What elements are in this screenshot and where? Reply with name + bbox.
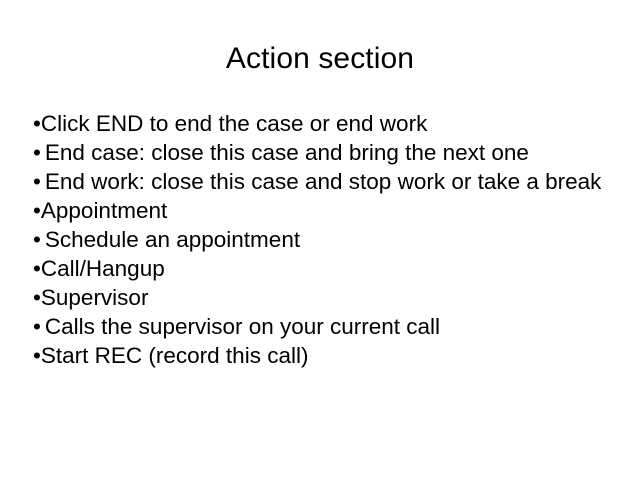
bullet-glyph-icon: • <box>33 343 41 368</box>
list-item: •Start REC (record this call) <box>33 341 611 370</box>
list-item: •Calls the supervisor on your current ca… <box>33 312 611 341</box>
page-title: Action section <box>0 41 640 77</box>
list-item-label: End case: close this case and bring the … <box>45 140 529 165</box>
slide-canvas: Action section •Click END to end the cas… <box>0 0 640 480</box>
bullet-glyph-icon: • <box>33 111 41 136</box>
bullet-glyph-icon: • <box>33 314 45 339</box>
list-item-label: End work: close this case and stop work … <box>45 169 602 194</box>
list-item-label: Call/Hangup <box>41 256 165 281</box>
bullet-glyph-icon: • <box>33 256 41 281</box>
bullet-glyph-icon: • <box>33 198 41 223</box>
bullet-glyph-icon: • <box>33 169 45 194</box>
list-item: •Supervisor <box>33 283 611 312</box>
list-item: •Schedule an appointment <box>33 225 611 254</box>
list-item-label: Supervisor <box>41 285 149 310</box>
list-item-label: Schedule an appointment <box>45 227 300 252</box>
list-item: •End case: close this case and bring the… <box>33 138 611 167</box>
bullet-glyph-icon: • <box>33 227 45 252</box>
list-item: •End work: close this case and stop work… <box>33 167 611 196</box>
list-item-label: Click END to end the case or end work <box>41 111 427 136</box>
list-item-label: Calls the supervisor on your current cal… <box>45 314 440 339</box>
list-item: •Appointment <box>33 196 611 225</box>
list-item: •Call/Hangup <box>33 254 611 283</box>
list-item-label: Start REC (record this call) <box>41 343 309 368</box>
list-item-label: Appointment <box>41 198 167 223</box>
list-item: •Click END to end the case or end work <box>33 109 611 138</box>
bullet-glyph-icon: • <box>33 285 41 310</box>
bullet-glyph-icon: • <box>33 140 45 165</box>
bullet-list: •Click END to end the case or end work •… <box>33 109 611 370</box>
